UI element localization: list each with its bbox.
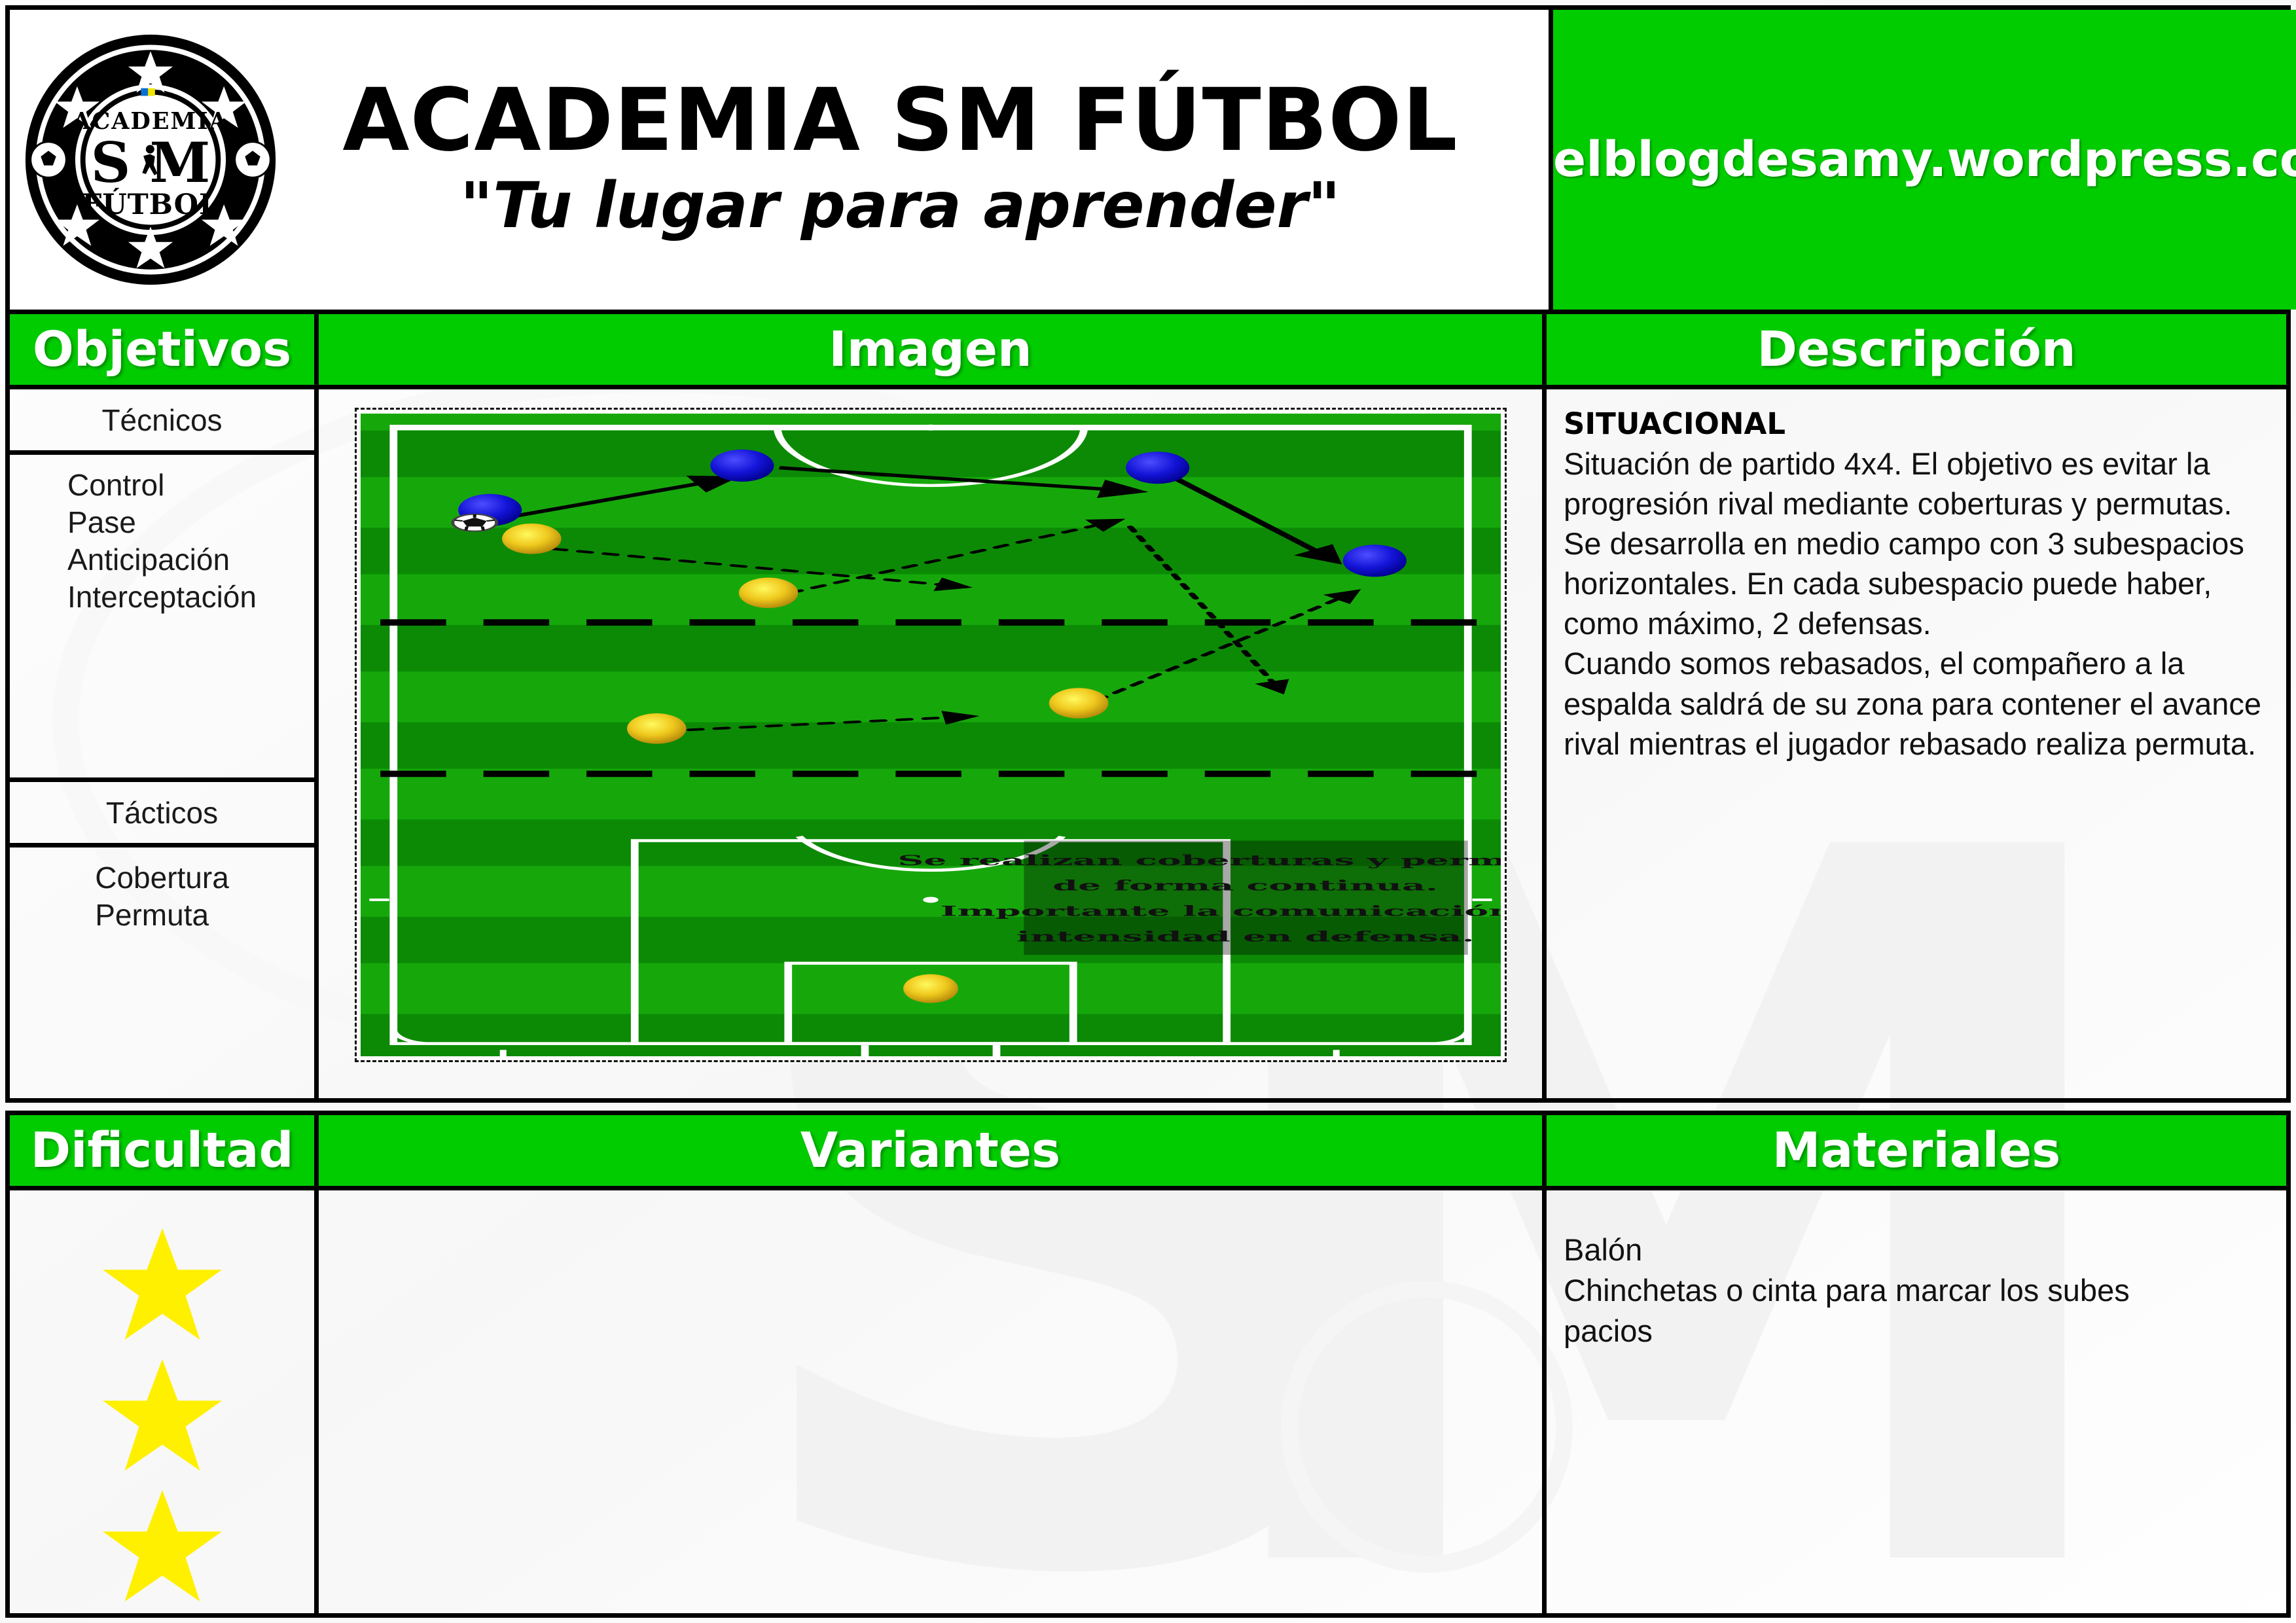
variantes-column — [319, 1190, 1547, 1613]
blog-url-banner[interactable]: elblogdesamy.wordpress.com — [1553, 10, 2296, 310]
blog-url-text: elblogdesamy.wordpress.com — [1553, 132, 2296, 188]
annotation-line-4: intensidad en defensa. — [1016, 928, 1474, 944]
materiales-column: Balón Chinchetas o cinta para marcar los… — [1547, 1190, 2286, 1613]
field-diagram[interactable]: Se realizan coberturas y permutas de for… — [355, 408, 1507, 1062]
header-title-area: ACADEMIA S M FÚTBOL ACADEMIA SM FÚTBOL "… — [10, 10, 1553, 310]
descripcion-heading: SITUACIONAL — [1564, 406, 2269, 441]
descripcion-column: SITUACIONAL Situación de partido 4x4. El… — [1547, 389, 2286, 1098]
objetivos-tacticos-label: Tácticos — [10, 782, 314, 847]
header-imagen: Imagen — [319, 314, 1547, 385]
dificultad-column — [10, 1190, 319, 1613]
soccer-ball-icon — [452, 514, 496, 531]
header-objetivos: Objetivos — [10, 314, 319, 385]
imagen-column: Se realizan coberturas y permutas de for… — [319, 389, 1547, 1098]
descripcion-text: Situación de partido 4x4. El objetivo es… — [1564, 444, 2269, 764]
svg-text:FÚTBOL: FÚTBOL — [82, 188, 219, 221]
content-row-bottom: Balón Chinchetas o cinta para marcar los… — [5, 1190, 2291, 1618]
card-header: ACADEMIA S M FÚTBOL ACADEMIA SM FÚTBOL "… — [5, 5, 2291, 310]
objetivos-tecnicos-label: Técnicos — [10, 389, 314, 455]
header-dificultad: Dificultad — [10, 1115, 319, 1186]
header-variantes: Variantes — [319, 1115, 1547, 1186]
objetivos-tacticos-list: Cobertura Permuta — [10, 847, 314, 1098]
headers-row-bottom: Dificultad Variantes Materiales — [5, 1111, 2291, 1190]
session-card: ACADEMIA S M FÚTBOL ACADEMIA SM FÚTBOL "… — [0, 0, 2296, 1623]
field-svg: Se realizan coberturas y permutas de for… — [361, 414, 1501, 1056]
crest-icon: ACADEMIA S M FÚTBOL — [23, 32, 278, 287]
headers-row-top: Objetivos Imagen Descripción — [5, 310, 2291, 389]
difficulty-star — [97, 1354, 228, 1478]
objetivos-column: Técnicos Control Pase Anticipación Inter… — [10, 389, 319, 1098]
page-subtitle: "Tu lugar para aprender" — [291, 168, 1509, 243]
materiales-text: Balón Chinchetas o cinta para marcar los… — [1564, 1230, 2269, 1351]
page-title: ACADEMIA SM FÚTBOL — [291, 76, 1509, 166]
content-row-top: Técnicos Control Pase Anticipación Inter… — [5, 389, 2291, 1103]
club-logo: ACADEMIA S M FÚTBOL — [10, 32, 291, 287]
header-descripcion: Descripción — [1547, 314, 2286, 385]
difficulty-star — [97, 1485, 228, 1609]
annotation-line-2: de forma continua. — [1052, 878, 1438, 894]
annotation-line-3: Importante la comunicación e — [940, 903, 1500, 919]
objetivos-tecnicos-list: Control Pase Anticipación Interceptación — [10, 455, 314, 782]
header-materiales: Materiales — [1547, 1115, 2286, 1186]
annotation-line-1: Se realizan coberturas y permutas — [897, 852, 1501, 868]
title-block: ACADEMIA SM FÚTBOL "Tu lugar para aprend… — [291, 76, 1549, 243]
difficulty-star — [97, 1223, 228, 1347]
